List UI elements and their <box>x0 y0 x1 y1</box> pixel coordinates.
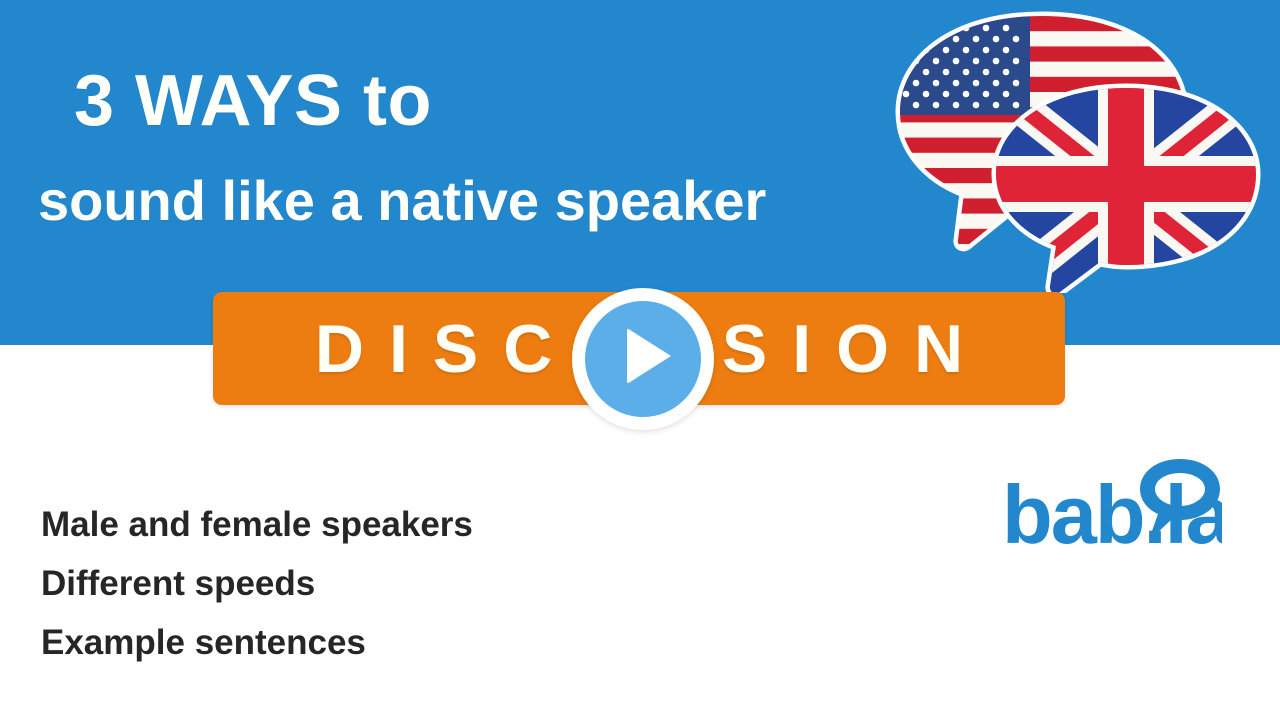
babla-logo-icon: bab.la <box>1002 455 1222 560</box>
list-item: Example sentences <box>41 613 741 672</box>
svg-text:bab.la: bab.la <box>1002 468 1222 560</box>
flag-speech-bubbles <box>892 8 1268 293</box>
headline-secondary: sound like a native speaker <box>38 170 766 232</box>
play-triangle-icon <box>627 328 671 384</box>
slide-canvas: 3 WAYS to sound like a native speaker <box>0 0 1280 720</box>
uk-flag-speech-bubble-icon <box>992 84 1262 293</box>
list-item: Different speeds <box>41 554 741 613</box>
headline-primary: 3 WAYS to <box>74 62 894 140</box>
play-button[interactable] <box>572 288 714 430</box>
headline-block: 3 WAYS to sound like a native speaker <box>74 62 894 140</box>
feature-bullet-list: Male and female speakers Different speed… <box>41 495 741 672</box>
list-item: Male and female speakers <box>41 495 741 554</box>
